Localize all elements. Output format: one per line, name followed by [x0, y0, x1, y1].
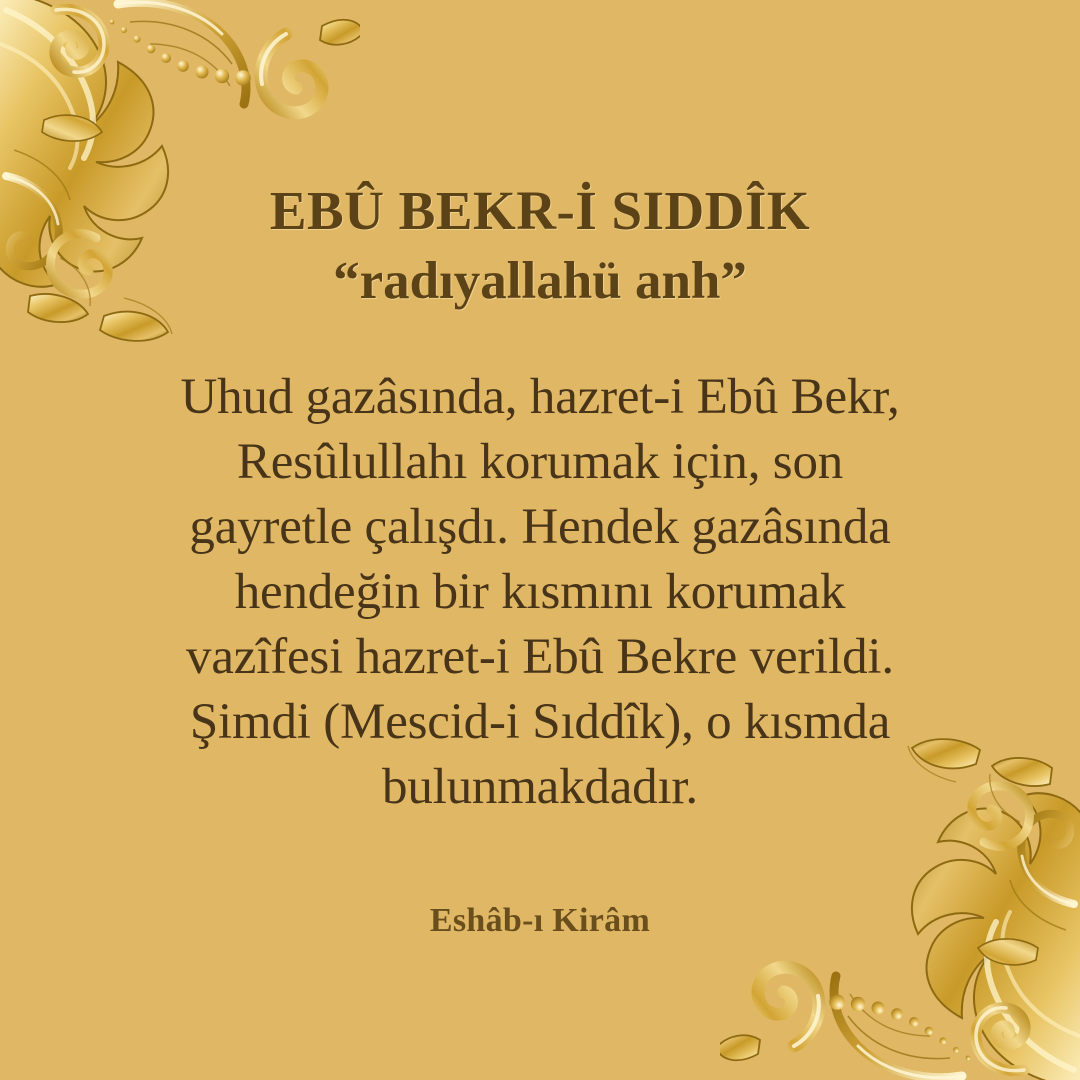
- quote-line: vazîfesi hazret-i Ebû Bekre verildi.: [110, 625, 970, 690]
- quote-body: Uhud gazâsında, hazret-i Ebû Bekr, Resûl…: [110, 365, 970, 820]
- quote-line: Resûlullahı korumak için, son: [110, 430, 970, 495]
- page-title: EBÛ BEKR-İ SIDDÎK: [0, 183, 1080, 238]
- quote-line: gayretle çalışdı. Hendek gazâsında: [110, 495, 970, 560]
- quote-line: Uhud gazâsında, hazret-i Ebû Bekr,: [110, 365, 970, 430]
- quote-line: Şimdi (Mescid-i Sıddîk), o kısmda: [110, 690, 970, 755]
- source-attribution: Eshâb-ı Kirâm: [0, 902, 1080, 939]
- title-block: EBÛ BEKR-İ SIDDÎK “radıyallahü anh”: [0, 183, 1080, 308]
- attribution-block: Eshâb-ı Kirâm: [0, 902, 1080, 939]
- quote-card: EBÛ BEKR-İ SIDDÎK “radıyallahü anh” Uhud…: [0, 0, 1080, 1080]
- quote-line: hendeğin bir kısmını korumak: [110, 560, 970, 625]
- quote-line: bulunmakdadır.: [110, 755, 970, 820]
- page-subtitle: “radıyallahü anh”: [0, 255, 1080, 308]
- content-area: EBÛ BEKR-İ SIDDÎK “radıyallahü anh” Uhud…: [0, 0, 1080, 1080]
